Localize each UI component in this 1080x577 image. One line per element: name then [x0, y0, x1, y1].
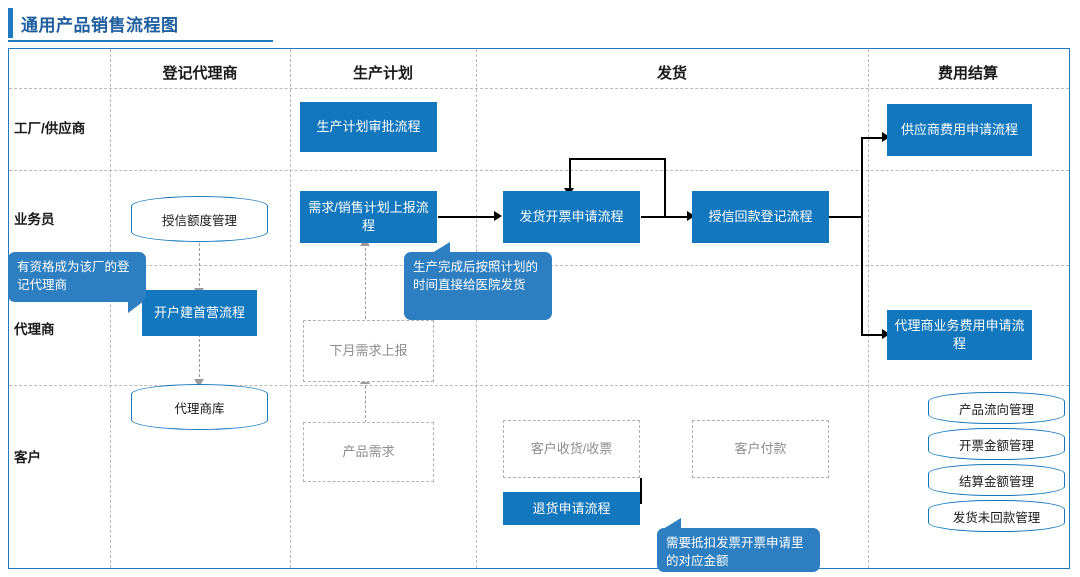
callout-deduct-invoice-amount-tail [663, 518, 681, 529]
callout-direct-hospital-shipment-tail [432, 242, 450, 253]
flowchart-canvas: 通用产品销售流程图 登记代理商 生产计划 发货 费用结算 工厂/供应商 业务员 … [0, 0, 1080, 577]
connector-product-demand-up [365, 381, 366, 423]
connector-demand-to-ship [438, 216, 498, 218]
page-title: 通用产品销售流程图 [8, 8, 179, 38]
connector-plan-loop-right-vertical [664, 158, 666, 216]
column-header-1: 生产计划 [290, 62, 476, 83]
process-return-application[interactable]: 退货申请流程 [503, 492, 640, 525]
page-title-text: 通用产品销售流程图 [13, 11, 179, 36]
connector-next-month-up [365, 243, 366, 319]
datastore-agent-library-label: 代理商库 [174, 398, 224, 417]
datastore-settlement-amount-management-label: 结算金额管理 [959, 471, 1034, 490]
process-open-account-first-business[interactable]: 开户建首营流程 [142, 290, 257, 336]
column-separator-2 [290, 49, 291, 568]
row-label-2: 代理商 [14, 318, 55, 338]
datastore-credit-limit-management: 授信额度管理 [131, 196, 268, 242]
row-separator-header [9, 88, 1069, 89]
callout-agent-qualification-label: 有资格成为该厂的登记代理商 [17, 260, 130, 292]
datastore-product-flow-management-label: 产品流向管理 [959, 399, 1034, 418]
connector-credit-split-horizontal [829, 216, 862, 218]
process-credit-repayment-registration[interactable]: 授信回款登记流程 [692, 191, 829, 243]
ghost-product-demand: 产品需求 [303, 422, 434, 482]
process-shipment-invoice-application[interactable]: 发货开票申请流程 [503, 191, 640, 243]
datastore-agent-library: 代理商库 [131, 384, 268, 430]
connector-credit-split-vertical [861, 137, 863, 335]
datastore-credit-limit-management-label: 授信额度管理 [162, 210, 237, 229]
connector-plan-to-ship-horizontal [569, 158, 665, 160]
column-header-3: 费用结算 [868, 62, 1068, 83]
callout-direct-hospital-shipment: 生产完成后按照计划的时间直接给医院发货 [404, 252, 552, 320]
callout-deduct-invoice-amount: 需要抵扣发票开票申请里的对应金额 [657, 528, 820, 572]
process-supplier-fee-application[interactable]: 供应商费用申请流程 [887, 104, 1032, 156]
column-separator-4 [868, 49, 869, 568]
datastore-unpaid-shipment-management: 发货未回款管理 [928, 500, 1065, 532]
ghost-customer-payment: 客户付款 [692, 420, 829, 478]
column-header-2: 发货 [476, 62, 868, 83]
row-label-0: 工厂/供应商 [14, 117, 85, 137]
row-label-3: 客户 [14, 446, 41, 466]
callout-agent-qualification-tail [128, 301, 144, 313]
callout-agent-qualification: 有资格成为该厂的登记代理商 [8, 252, 146, 302]
callout-direct-hospital-shipment-label: 生产完成后按照计划的时间直接给医院发货 [413, 260, 538, 292]
datastore-invoice-amount-management-label: 开票金额管理 [959, 435, 1034, 454]
ghost-customer-receive-invoice: 客户收货/收票 [503, 420, 640, 478]
process-production-plan-approval[interactable]: 生产计划审批流程 [300, 102, 437, 152]
callout-deduct-invoice-amount-label: 需要抵扣发票开票申请里的对应金额 [666, 536, 804, 568]
row-label-1: 业务员 [14, 208, 55, 228]
connector-credit-to-account [199, 243, 200, 291]
datastore-invoice-amount-management: 开票金额管理 [928, 428, 1065, 460]
row-separator-1 [9, 170, 1069, 171]
process-agent-business-fee-application[interactable]: 代理商业务费用申请流程 [887, 310, 1032, 360]
datastore-product-flow-management: 产品流向管理 [928, 392, 1065, 424]
connector-demand-to-ship-arrow [494, 211, 502, 221]
ghost-next-month-demand-report: 下月需求上报 [303, 320, 434, 382]
column-separator-1 [110, 49, 111, 568]
connector-account-to-agentdb [199, 334, 200, 382]
datastore-settlement-amount-management: 结算金额管理 [928, 464, 1065, 496]
column-header-0: 登记代理商 [110, 62, 290, 83]
process-demand-sales-plan-report[interactable]: 需求/销售计划上报流程 [300, 191, 437, 243]
connector-ship-to-credit [641, 216, 691, 218]
title-underline [8, 40, 273, 42]
connector-return-up [640, 478, 642, 504]
datastore-unpaid-shipment-management-label: 发货未回款管理 [953, 507, 1041, 526]
